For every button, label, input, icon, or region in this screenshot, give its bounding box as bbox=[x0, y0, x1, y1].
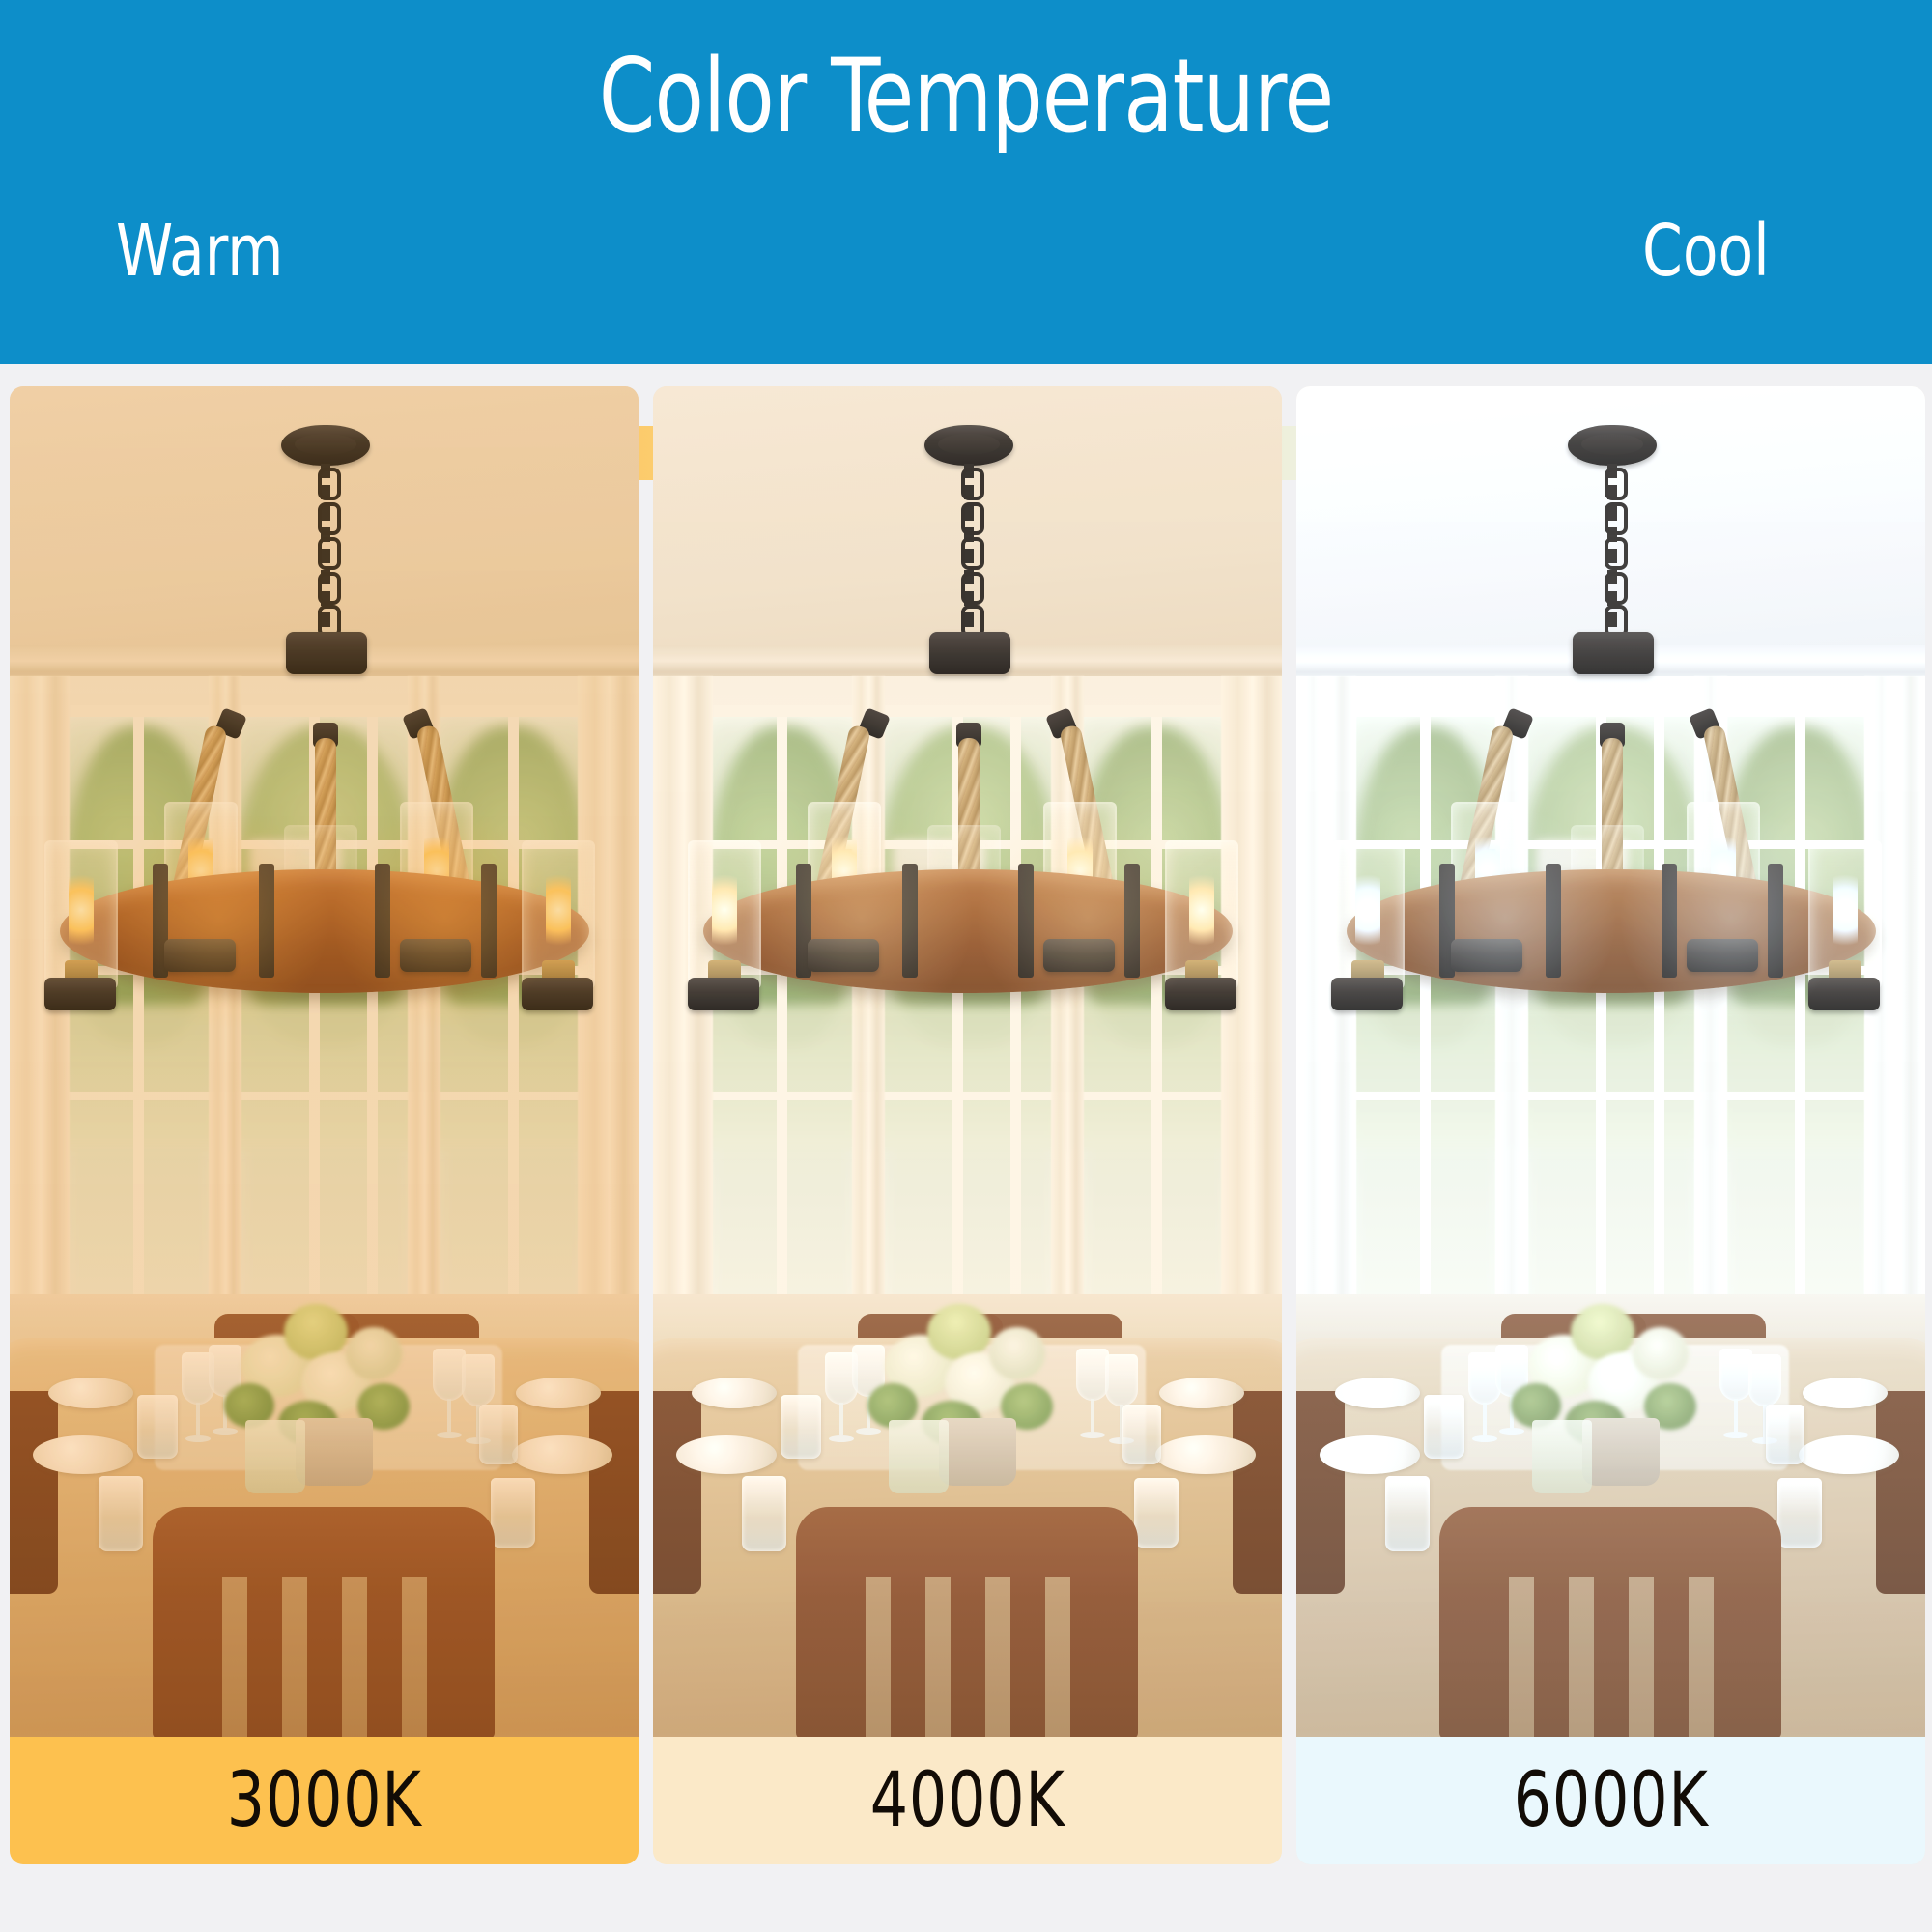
header-banner: Color Temperature Warm Cool bbox=[0, 0, 1932, 364]
slider-label-warm: Warm bbox=[116, 205, 284, 298]
temperature-label: 6000K bbox=[1513, 1759, 1708, 1842]
color-grade-warm-screen bbox=[10, 386, 639, 1737]
comparison-panels: 3000K bbox=[0, 386, 1932, 1864]
label-bar-4000k: 4000K bbox=[653, 1737, 1282, 1864]
label-bar-6000k: 6000K bbox=[1296, 1737, 1925, 1864]
temperature-label: 4000K bbox=[869, 1759, 1065, 1842]
page-title: Color Temperature bbox=[116, 43, 1816, 151]
label-bar-3000k: 3000K bbox=[10, 1737, 639, 1864]
panel-3000k[interactable]: 3000K bbox=[10, 386, 639, 1864]
scene-image-3000k bbox=[10, 386, 639, 1737]
panel-6000k[interactable]: 6000K bbox=[1296, 386, 1925, 1864]
slider-label-cool: Cool bbox=[1642, 205, 1770, 298]
color-grade-cool-screen bbox=[1296, 386, 1925, 1737]
scene-image-4000k bbox=[653, 386, 1282, 1737]
color-temperature-slider[interactable]: Warm Cool bbox=[0, 201, 1932, 307]
panel-4000k[interactable]: 4000K bbox=[653, 386, 1282, 1864]
color-grade-neutral-screen bbox=[653, 386, 1282, 1737]
temperature-label: 3000K bbox=[226, 1759, 421, 1842]
scene-image-6000k bbox=[1296, 386, 1925, 1737]
infographic-page: Color Temperature Warm Cool bbox=[0, 0, 1932, 1932]
